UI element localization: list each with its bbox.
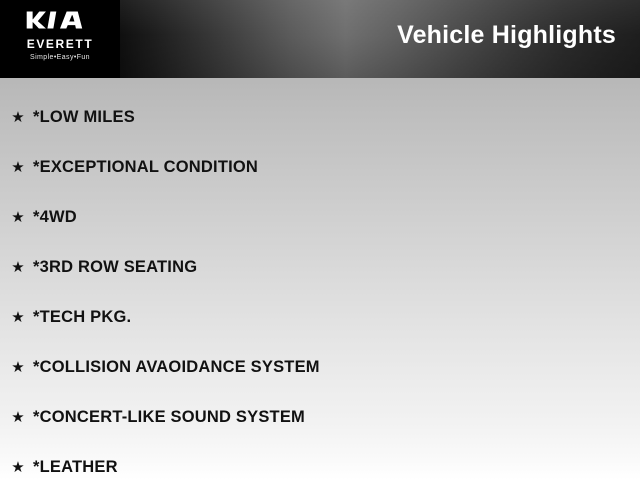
star-icon: ★ xyxy=(8,160,28,175)
vehicle-highlights-page: EVERETT Simple•Easy•Fun Vehicle Highligh… xyxy=(0,0,640,480)
star-icon: ★ xyxy=(8,110,28,125)
list-item: ★ *EXCEPTIONAL CONDITION xyxy=(0,142,640,192)
highlight-label: *3RD ROW SEATING xyxy=(33,258,197,277)
list-item: ★ *4WD xyxy=(0,192,640,242)
star-icon: ★ xyxy=(8,360,28,375)
page-title: Vehicle Highlights xyxy=(397,21,616,50)
list-item: ★ *LEATHER xyxy=(0,442,640,480)
highlight-label: *TECH PKG. xyxy=(33,308,131,327)
header-bar: EVERETT Simple•Easy•Fun Vehicle Highligh… xyxy=(0,0,640,78)
list-item: ★ *CONCERT-LIKE SOUND SYSTEM xyxy=(0,392,640,442)
highlight-label: *LOW MILES xyxy=(33,108,135,127)
star-icon: ★ xyxy=(8,260,28,275)
highlight-label: *COLLISION AVAOIDANCE SYSTEM xyxy=(33,358,320,377)
highlight-label: *4WD xyxy=(33,208,77,227)
list-item: ★ *LOW MILES xyxy=(0,92,640,142)
list-item: ★ *3RD ROW SEATING xyxy=(0,242,640,292)
highlight-label: *EXCEPTIONAL CONDITION xyxy=(33,158,258,177)
list-item: ★ *COLLISION AVAOIDANCE SYSTEM xyxy=(0,342,640,392)
star-icon: ★ xyxy=(8,410,28,425)
star-icon: ★ xyxy=(8,210,28,225)
dealer-name: EVERETT xyxy=(27,38,94,50)
highlight-label: *CONCERT-LIKE SOUND SYSTEM xyxy=(33,408,305,427)
dealer-tagline: Simple•Easy•Fun xyxy=(30,54,90,61)
highlights-list: ★ *LOW MILES ★ *EXCEPTIONAL CONDITION ★ … xyxy=(0,78,640,480)
highlight-label: *LEATHER xyxy=(33,458,118,477)
dealer-logo-block: EVERETT Simple•Easy•Fun xyxy=(0,0,120,78)
list-item: ★ *TECH PKG. xyxy=(0,292,640,342)
star-icon: ★ xyxy=(8,460,28,475)
star-icon: ★ xyxy=(8,310,28,325)
kia-logo-icon xyxy=(23,9,97,31)
